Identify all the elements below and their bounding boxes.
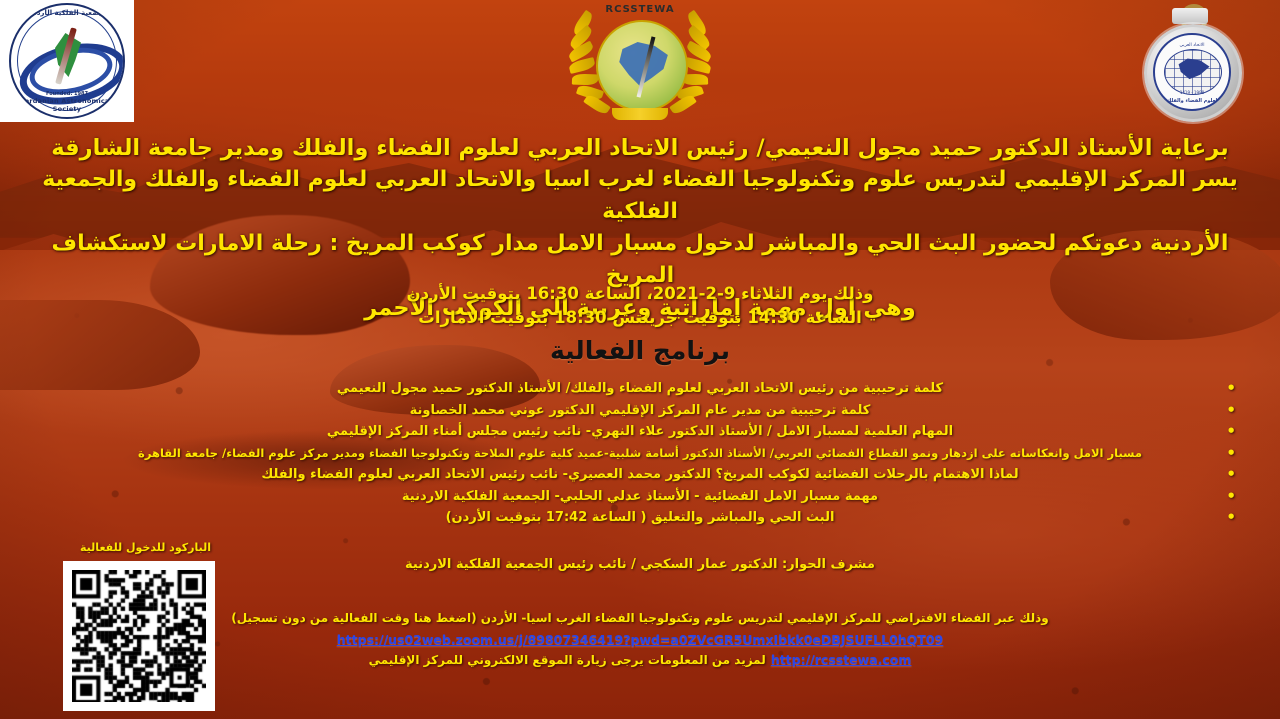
agenda-item: كلمة ترحيبية من رئيس الاتحاد العربي لعلو…	[40, 378, 1240, 400]
qr-section: الباركود للدخول للفعالية	[63, 541, 228, 716]
agenda-item: لماذا الاهتمام بالرحلات الفضائية لكوكب ا…	[40, 464, 1240, 486]
zoom-meeting-link[interactable]: https://us02web.zoom.us/j/89807346419?pw…	[337, 632, 943, 647]
medal-cap	[1172, 8, 1208, 24]
datetime-line-1: وذلك يوم الثلاثاء 9-2-2021، الساعة 16:30…	[180, 282, 1100, 306]
rcsstewa-logo: RCSSTEWA	[566, 2, 714, 120]
headline-line-2: يسر المركز الإقليمي لتدريس علوم وتكنولوج…	[40, 164, 1240, 228]
medal-globe-icon	[1164, 49, 1222, 95]
headline-line-1: برعاية الأستاذ الدكتور حميد مجول النعيمي…	[40, 132, 1240, 164]
agenda-item: مهمة مسبار الامل الفضائية - الأستاذ عدلي…	[40, 486, 1240, 508]
qr-code-box[interactable]	[63, 561, 215, 711]
medal-bottom-text: لعلوم الفضاء والفلك	[1155, 98, 1229, 104]
agenda-item: البث الحي والمباشر والتعليق ( الساعة 17:…	[40, 507, 1240, 529]
qr-code-image[interactable]	[72, 570, 206, 702]
event-poster: الجمعية الفلكية الأردنية Founded: 1987 J…	[0, 0, 1280, 719]
agenda-item: مسبار الامل وانعكاساته على ازدهار ونمو ا…	[40, 443, 1240, 465]
program-agenda-list: كلمة ترحيبية من رئيس الاتحاد العربي لعلو…	[40, 378, 1240, 529]
rcsstewa-globe-icon	[596, 20, 688, 112]
rcsstewa-website-link[interactable]: http://rcsstewa.com	[771, 649, 912, 670]
medal-year-text: 1998 - 1419	[1155, 90, 1229, 95]
event-datetime: وذلك يوم الثلاثاء 9-2-2021، الساعة 16:30…	[180, 282, 1100, 330]
medal-inner-face: الاتحاد العربي 1998 - 1419 لعلوم الفضاء …	[1153, 33, 1231, 111]
agenda-item: كلمة ترحيبية من مدير عام المركز الإقليمي…	[40, 400, 1240, 422]
jordanian-astronomical-society-logo: الجمعية الفلكية الأردنية Founded: 1987 J…	[0, 0, 134, 122]
arab-union-space-sciences-logo: الاتحاد العربي 1998 - 1419 لعلوم الفضاء …	[1136, 6, 1244, 122]
program-title: برنامج الفعالية	[0, 336, 1280, 365]
footer-more-info-note: لمزيد من المعلومات يرجى زيارة الموقع الا…	[369, 653, 766, 667]
datetime-line-2: الساعة 14:30 بتوقيت جرينتش 18:30 بتوقيت …	[180, 306, 1100, 330]
agenda-item: المهام العلمية لمسبار الامل / الأستاذ ال…	[40, 421, 1240, 443]
qr-label: الباركود للدخول للفعالية	[63, 541, 228, 554]
rcsstewa-base	[612, 108, 668, 120]
jas-badge: الجمعية الفلكية الأردنية Founded: 1987 J…	[9, 3, 125, 119]
jas-top-text: الجمعية الفلكية الأردنية	[11, 9, 123, 17]
jas-bottom-text: Jordanian Astronomical Society	[11, 97, 123, 113]
medal-top-text: الاتحاد العربي	[1155, 43, 1229, 48]
